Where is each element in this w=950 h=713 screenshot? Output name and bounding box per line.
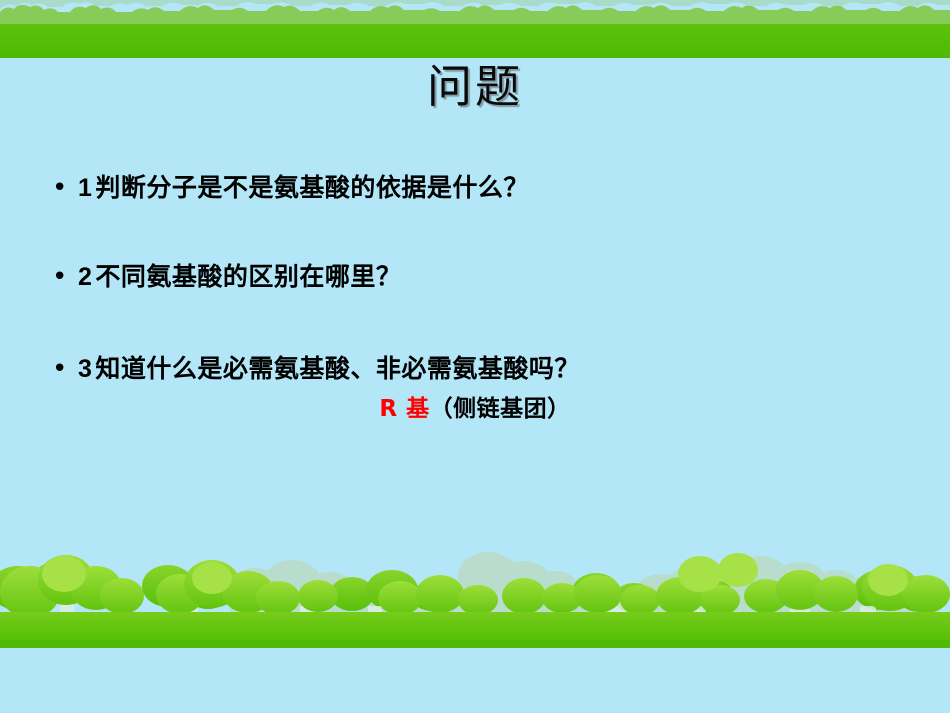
list-item-number: 2 (78, 263, 95, 291)
bullet-marker-icon: • (44, 175, 78, 201)
list-item: • 2不同氨基酸的区别在哪里？ (44, 263, 924, 292)
answer-line: R 基（侧链基团） (0, 396, 950, 422)
slide-canvas: 问题 • 1判断分子是不是氨基酸的依据是什么？ • 2不同氨基酸的区别在哪里？ … (0, 0, 950, 713)
list-item-body: 判断分子是不是氨基酸的依据是什么？ (95, 173, 529, 202)
list-item-text: 3知道什么是必需氨基酸、非必需氨基酸吗？ (78, 355, 580, 384)
top-foliage-fringe-icon (0, 0, 950, 24)
list-item-body: 不同氨基酸的区别在哪里？ (95, 262, 401, 291)
bullet-list: • 1判断分子是不是氨基酸的依据是什么？ • 2不同氨基酸的区别在哪里？ • 3… (0, 160, 950, 460)
list-item-number: 1 (78, 174, 95, 202)
list-item: • 3知道什么是必需氨基酸、非必需氨基酸吗？ (44, 355, 924, 384)
top-decoration-band (0, 0, 950, 58)
list-item-number: 3 (78, 355, 95, 383)
answer-rest-text: （侧链基团） (430, 396, 571, 422)
foliage-scene-icon (0, 540, 950, 648)
grass-base (0, 640, 950, 648)
bullet-marker-icon: • (44, 264, 78, 290)
bottom-decoration-band (0, 540, 950, 648)
answer-highlight-text: R 基 (379, 396, 429, 422)
list-item-text: 2不同氨基酸的区别在哪里？ (78, 263, 401, 292)
list-item-body: 知道什么是必需氨基酸、非必需氨基酸吗？ (95, 354, 580, 383)
bullet-marker-icon: • (44, 356, 78, 382)
list-item-text: 1判断分子是不是氨基酸的依据是什么？ (78, 174, 529, 203)
slide-title: 问题 (0, 58, 950, 116)
list-item: • 1判断分子是不是氨基酸的依据是什么？ (44, 174, 924, 203)
